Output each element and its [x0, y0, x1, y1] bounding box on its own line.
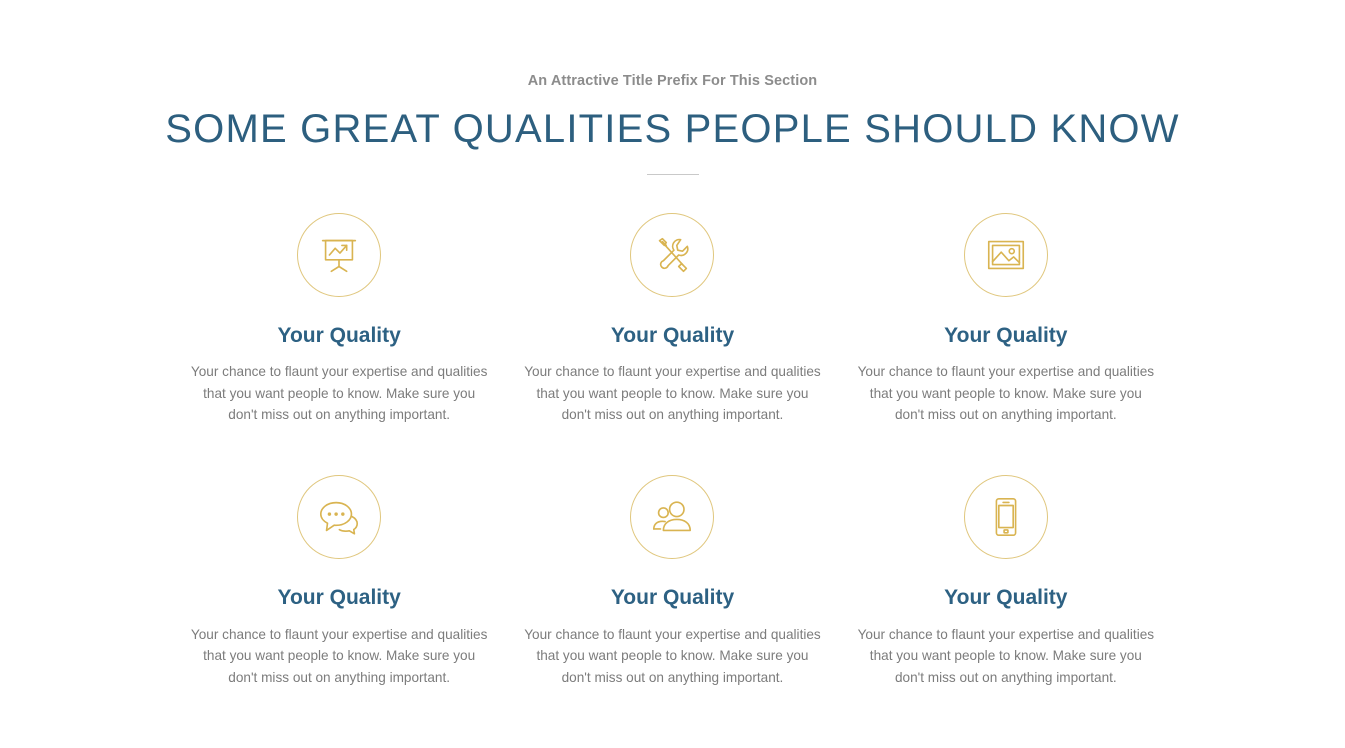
quality-card-title: Your Quality: [611, 323, 734, 348]
icon-circle: [630, 475, 714, 559]
quality-card[interactable]: Your Quality Your chance to flaunt your …: [506, 213, 839, 426]
chat-bubbles-icon: [316, 494, 362, 540]
quality-card-body: Your chance to flaunt your expertise and…: [522, 624, 822, 688]
quality-card-body: Your chance to flaunt your expertise and…: [522, 361, 822, 425]
mobile-phone-icon: [983, 494, 1029, 540]
quality-card-body: Your chance to flaunt your expertise and…: [856, 624, 1156, 688]
title-divider: [647, 174, 699, 175]
quality-card-body: Your chance to flaunt your expertise and…: [856, 361, 1156, 425]
presentation-chart-icon: [316, 232, 362, 278]
icon-circle: [630, 213, 714, 297]
quality-card[interactable]: Your Quality Your chance to flaunt your …: [839, 213, 1172, 426]
quality-card[interactable]: Your Quality Your chance to flaunt your …: [839, 475, 1172, 688]
quality-card-title: Your Quality: [944, 323, 1067, 348]
quality-card[interactable]: Your Quality Your chance to flaunt your …: [173, 475, 506, 688]
quality-card[interactable]: Your Quality Your chance to flaunt your …: [173, 213, 506, 426]
icon-circle: [297, 475, 381, 559]
image-picture-icon: [983, 232, 1029, 278]
section-title-prefix: An Attractive Title Prefix For This Sect…: [0, 72, 1345, 91]
qualities-grid: Your Quality Your chance to flaunt your …: [173, 175, 1173, 688]
icon-circle: [964, 475, 1048, 559]
quality-card-title: Your Quality: [944, 585, 1067, 610]
quality-card[interactable]: Your Quality Your chance to flaunt your …: [506, 475, 839, 688]
wrench-screwdriver-icon: [649, 232, 695, 278]
quality-card-title: Your Quality: [278, 585, 401, 610]
icon-circle: [964, 213, 1048, 297]
section-header: An Attractive Title Prefix For This Sect…: [0, 0, 1345, 175]
quality-card-title: Your Quality: [611, 585, 734, 610]
icon-circle: [297, 213, 381, 297]
page-root: An Attractive Title Prefix For This Sect…: [0, 0, 1345, 748]
quality-card-title: Your Quality: [278, 323, 401, 348]
users-group-icon: [649, 494, 695, 540]
quality-card-body: Your chance to flaunt your expertise and…: [189, 624, 489, 688]
section-main-title: SOME GREAT QUALITIES PEOPLE SHOULD KNOW: [0, 106, 1345, 152]
quality-card-body: Your chance to flaunt your expertise and…: [189, 361, 489, 425]
